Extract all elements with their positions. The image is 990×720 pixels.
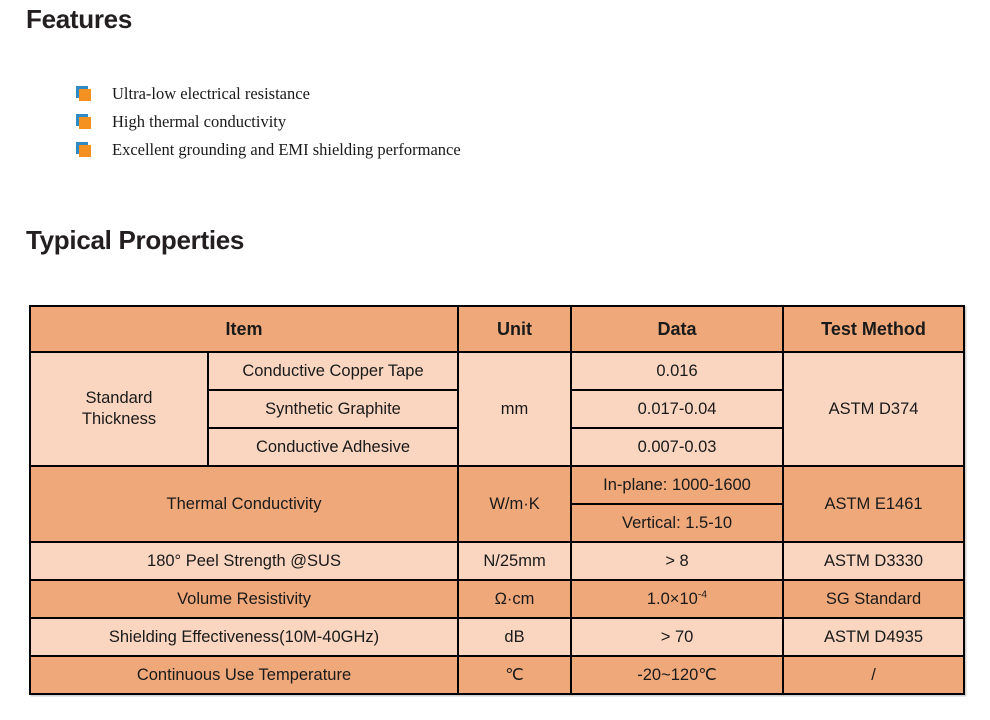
cell-data-continuous-use-temperature: -20~120℃ — [571, 656, 783, 694]
cell-test-method-volume-resistivity: SG Standard — [783, 580, 964, 618]
cell-data-volume-resistivity: 1.0×10-4 — [571, 580, 783, 618]
table-row: Shielding Effectiveness(10M-40GHz) dB > … — [30, 618, 964, 656]
cell-item-conductive-adhesive: Conductive Adhesive — [208, 428, 458, 466]
cell-data-peel-strength: > 8 — [571, 542, 783, 580]
typical-properties-table-container: Item Unit Data Test Method Standard Thic… — [29, 305, 963, 695]
bullet-front-square-icon — [79, 145, 91, 157]
table-row: Volume Resistivity Ω·cm 1.0×10-4 SG Stan… — [30, 580, 964, 618]
cell-unit-continuous-use-temperature: ℃ — [458, 656, 571, 694]
cell-data-conductive-copper-tape: 0.016 — [571, 352, 783, 390]
table-row: Thermal Conductivity W/m·K In-plane: 100… — [30, 466, 964, 504]
cell-unit-peel-strength: N/25mm — [458, 542, 571, 580]
cell-item-peel-strength: 180° Peel Strength @SUS — [30, 542, 458, 580]
cell-item-volume-resistivity: Volume Resistivity — [30, 580, 458, 618]
cell-unit-shielding-effectiveness: dB — [458, 618, 571, 656]
typical-properties-table: Item Unit Data Test Method Standard Thic… — [29, 305, 965, 695]
cell-test-method-continuous-use-temperature: / — [783, 656, 964, 694]
typical-properties-heading: Typical Properties — [26, 225, 244, 256]
cell-unit-standard-thickness: mm — [458, 352, 571, 466]
feature-text: High thermal conductivity — [112, 112, 286, 131]
group-label-line1: Standard — [86, 389, 153, 407]
bullet-square-icon — [76, 86, 112, 104]
column-header-unit: Unit — [458, 306, 571, 352]
bullet-front-square-icon — [79, 89, 91, 101]
volume-resistivity-base: 1.0×10 — [647, 590, 698, 608]
volume-resistivity-exponent: -4 — [698, 588, 707, 600]
cell-test-method-standard-thickness: ASTM D374 — [783, 352, 964, 466]
cell-test-method-shielding-effectiveness: ASTM D4935 — [783, 618, 964, 656]
cell-test-method-thermal-conductivity: ASTM E1461 — [783, 466, 964, 542]
cell-data-synthetic-graphite: 0.017-0.04 — [571, 390, 783, 428]
cell-unit-volume-resistivity: Ω·cm — [458, 580, 571, 618]
list-item: Ultra-low electrical resistance — [76, 84, 461, 112]
cell-data-shielding-effectiveness: > 70 — [571, 618, 783, 656]
table-header-row: Item Unit Data Test Method — [30, 306, 964, 352]
column-header-data: Data — [571, 306, 783, 352]
bullet-square-icon — [76, 114, 112, 132]
feature-text: Ultra-low electrical resistance — [112, 84, 310, 103]
features-list: Ultra-low electrical resistance High the… — [76, 84, 461, 168]
cell-data-thermal-conductivity-in-plane: In-plane: 1000-1600 — [571, 466, 783, 504]
cell-data-conductive-adhesive: 0.007-0.03 — [571, 428, 783, 466]
bullet-square-icon — [76, 142, 112, 160]
list-item: High thermal conductivity — [76, 112, 461, 140]
cell-item-conductive-copper-tape: Conductive Copper Tape — [208, 352, 458, 390]
table-header: Item Unit Data Test Method — [30, 306, 964, 352]
cell-unit-thermal-conductivity: W/m·K — [458, 466, 571, 542]
table-row: 180° Peel Strength @SUS N/25mm > 8 ASTM … — [30, 542, 964, 580]
cell-item-synthetic-graphite: Synthetic Graphite — [208, 390, 458, 428]
group-label-line2: Thickness — [82, 410, 156, 428]
bullet-front-square-icon — [79, 117, 91, 129]
list-item: Excellent grounding and EMI shielding pe… — [76, 140, 461, 168]
cell-test-method-peel-strength: ASTM D3330 — [783, 542, 964, 580]
cell-item-continuous-use-temperature: Continuous Use Temperature — [30, 656, 458, 694]
cell-item-group-standard-thickness: Standard Thickness — [30, 352, 208, 466]
cell-item-thermal-conductivity: Thermal Conductivity — [30, 466, 458, 542]
cell-item-shielding-effectiveness: Shielding Effectiveness(10M-40GHz) — [30, 618, 458, 656]
cell-data-thermal-conductivity-vertical: Vertical: 1.5-10 — [571, 504, 783, 542]
table-row: Standard Thickness Conductive Copper Tap… — [30, 352, 964, 390]
table-row: Continuous Use Temperature ℃ -20~120℃ / — [30, 656, 964, 694]
feature-text: Excellent grounding and EMI shielding pe… — [112, 140, 461, 159]
column-header-item: Item — [30, 306, 458, 352]
column-header-test-method: Test Method — [783, 306, 964, 352]
table-body: Standard Thickness Conductive Copper Tap… — [30, 352, 964, 694]
features-heading: Features — [26, 4, 132, 35]
